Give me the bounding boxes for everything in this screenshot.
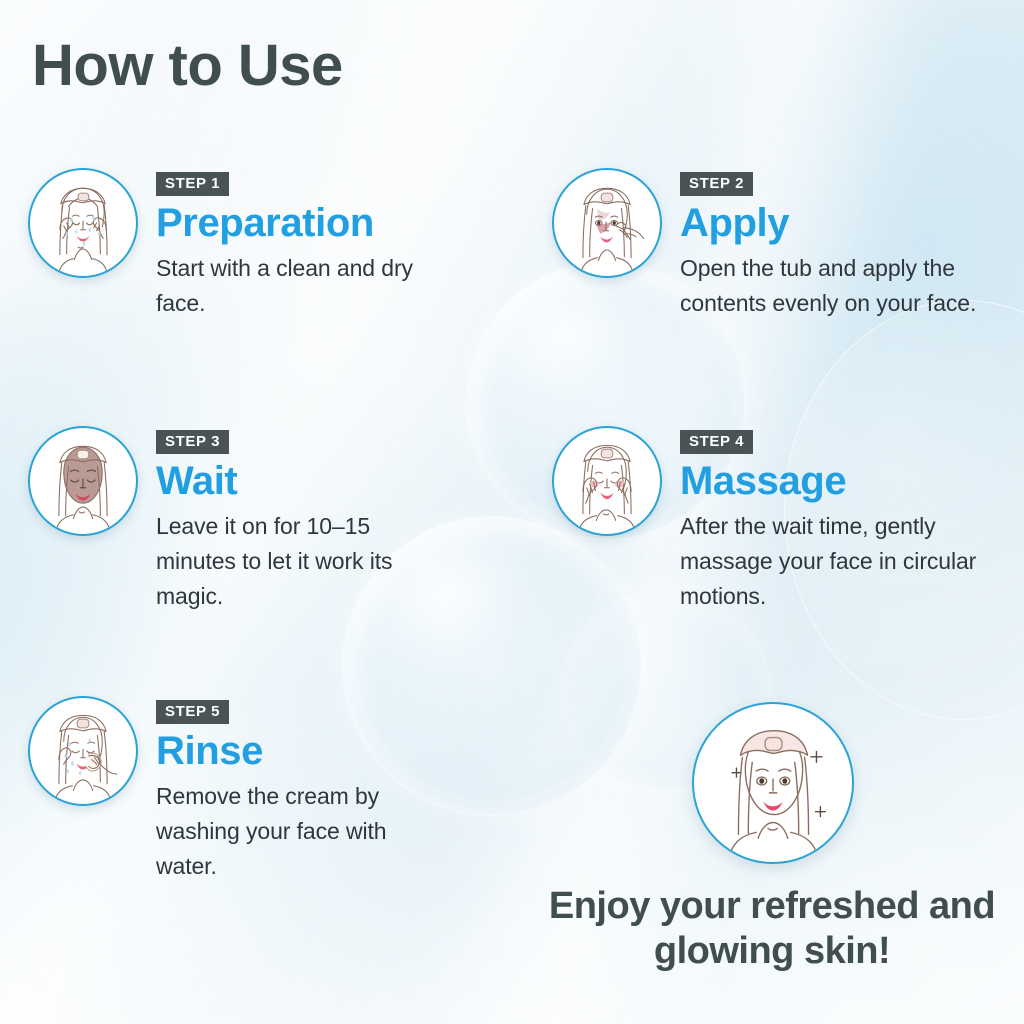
step-badge-1: STEP 1: [156, 172, 229, 196]
how-to-use-infographic: How to Use: [0, 0, 1024, 1024]
step-description-4: After the wait time, gently massage your…: [680, 509, 980, 614]
step-item-3: STEP 3 Wait Leave it on for 10–15 minute…: [28, 426, 446, 614]
step-body-5: STEP 5 Rinse Remove the cream by washing…: [156, 696, 446, 884]
step-title-2: Apply: [680, 202, 980, 245]
step-description-3: Leave it on for 10–15 minutes to let it …: [156, 509, 446, 614]
step-item-2: STEP 2 Apply Open the tub and apply the …: [552, 168, 980, 321]
step-badge-5: STEP 5: [156, 700, 229, 724]
face-washing-icon: [28, 168, 138, 278]
step-title-4: Massage: [680, 460, 980, 503]
step-description-2: Open the tub and apply the contents even…: [680, 251, 980, 321]
face-massage-icon: [552, 426, 662, 536]
step-badge-2: STEP 2: [680, 172, 753, 196]
step-body-1: STEP 1 Preparation Start with a clean an…: [156, 168, 446, 321]
glowing-face-icon: [692, 702, 854, 864]
step-item-5: STEP 5 Rinse Remove the cream by washing…: [28, 696, 446, 884]
face-applying-cream-icon: [552, 168, 662, 278]
step-title-1: Preparation: [156, 202, 446, 245]
page-title: How to Use: [32, 36, 343, 97]
step-body-4: STEP 4 Massage After the wait time, gent…: [680, 426, 980, 614]
step-title-5: Rinse: [156, 730, 446, 773]
step-title-3: Wait: [156, 460, 446, 503]
step-description-1: Start with a clean and dry face.: [156, 251, 446, 321]
step-item-1: STEP 1 Preparation Start with a clean an…: [28, 168, 446, 321]
step-description-5: Remove the cream by washing your face wi…: [156, 779, 446, 884]
step-body-3: STEP 3 Wait Leave it on for 10–15 minute…: [156, 426, 446, 614]
face-rinsing-icon: [28, 696, 138, 806]
step-badge-4: STEP 4: [680, 430, 753, 454]
face-with-mask-icon: [28, 426, 138, 536]
final-message: Enjoy your refreshed and glowing skin!: [530, 884, 1014, 974]
step-badge-3: STEP 3: [156, 430, 229, 454]
step-item-4: STEP 4 Massage After the wait time, gent…: [552, 426, 980, 614]
step-body-2: STEP 2 Apply Open the tub and apply the …: [680, 168, 980, 321]
